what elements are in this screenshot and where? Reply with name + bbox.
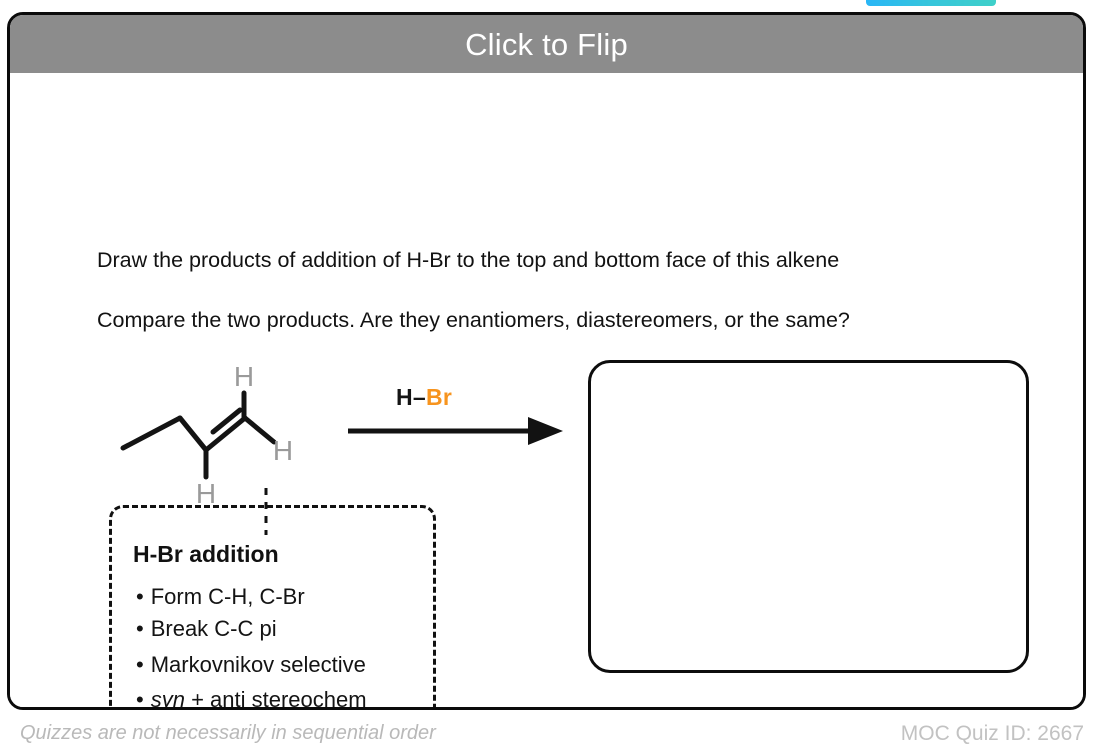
bullet-icon: • — [136, 687, 144, 710]
mechanism-notes-box: H-Br addition •Form C-H, C-Br •Break C-C… — [109, 505, 436, 710]
bullet-icon: • — [136, 584, 144, 609]
h-label-right: H — [273, 435, 293, 466]
prompt-line-2: Compare the two products. Are they enant… — [97, 308, 850, 333]
hydrogen-atom-labels: H H H — [196, 361, 293, 509]
mechanism-note-emphasis: syn — [151, 687, 185, 710]
mechanism-notes-title: H-Br addition — [133, 541, 279, 568]
mechanism-note-text: + anti stereochem — [191, 687, 366, 710]
bullet-icon: • — [136, 652, 144, 677]
prompt-line-1: Draw the products of addition of H-Br to… — [97, 248, 839, 273]
flashcard-header-bar[interactable]: Click to Flip — [10, 15, 1083, 73]
mechanism-note-item: •Break C-C pi — [136, 616, 277, 642]
mechanism-note-item: •Markovnikov selective — [136, 652, 366, 678]
mechanism-note-item: •syn + anti stereochem — [136, 687, 367, 710]
flashcard-body: Draw the products of addition of H-Br to… — [10, 73, 1083, 710]
progress-strip — [866, 0, 996, 6]
flip-instruction-label: Click to Flip — [465, 29, 628, 60]
footer-note: Quizzes are not necessarily in sequentia… — [20, 722, 436, 745]
reagent-h-text: H– — [396, 384, 426, 410]
bullet-icon: • — [136, 616, 144, 641]
mechanism-note-text: Break C-C pi — [151, 616, 277, 641]
mechanism-note-text: Form C-H, C-Br — [151, 584, 305, 609]
mechanism-note-text: Markovnikov selective — [151, 652, 366, 677]
alkene-skeletal-structure — [123, 393, 274, 477]
flashcard[interactable]: Click to Flip Draw the products of addit… — [7, 12, 1086, 710]
reagent-br-text: Br — [426, 384, 452, 410]
reagent-label: H–Br — [396, 384, 452, 411]
footer-quiz-id: MOC Quiz ID: 2667 — [901, 722, 1084, 746]
mechanism-note-item: •Form C-H, C-Br — [136, 584, 305, 610]
h-label-top: H — [234, 361, 254, 392]
reaction-arrow — [348, 417, 563, 445]
answer-drawing-area[interactable] — [588, 360, 1029, 673]
